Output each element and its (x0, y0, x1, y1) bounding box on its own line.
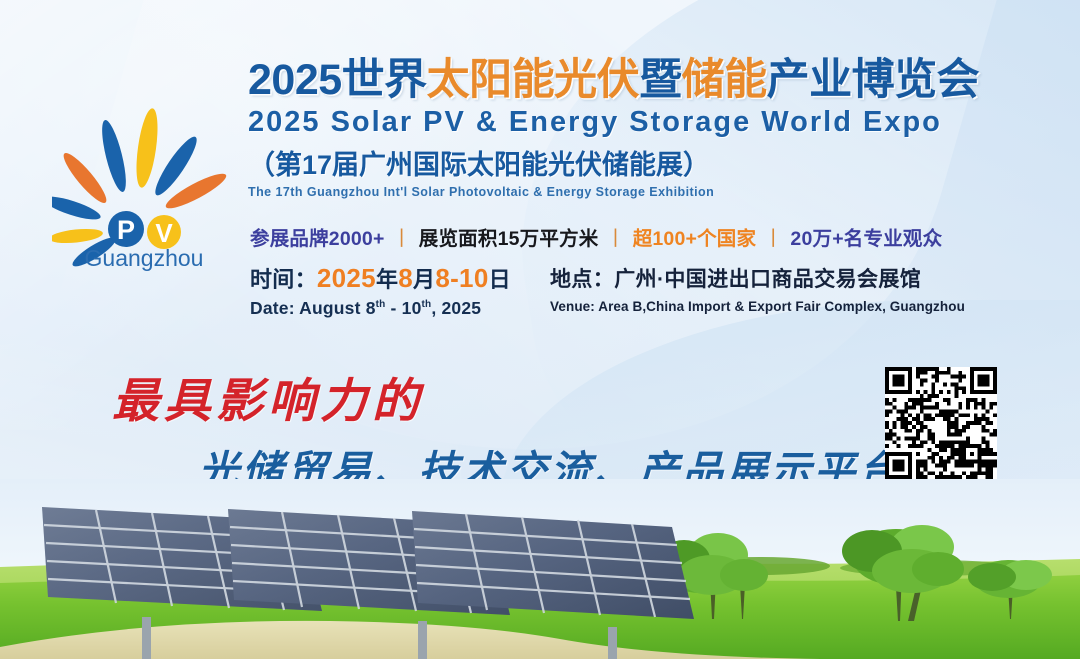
stat-separator-3: 丨 (763, 228, 783, 250)
date-en-sup-2: th (422, 299, 432, 310)
main-title-english: 2025 Solar PV & Energy Storage World Exp… (248, 106, 1038, 139)
pv-lettermark: P V (108, 211, 181, 249)
main-title-part-3: 暨 (639, 56, 682, 104)
date-english: Date: August 8th - 10th, 2025 (250, 298, 550, 319)
venue-block: 地点：广州·中国进出口商品交易会展馆 Venue: Area B,China I… (550, 262, 965, 314)
slogan-line-1: 最具影响力的 (112, 362, 872, 431)
main-title-part-4: 储能 (682, 56, 767, 104)
poster-header: 2025世界太阳能光伏暨储能产业博览会 2025 Solar PV & Ener… (248, 58, 1038, 199)
date-days-num: 8-10 (435, 263, 488, 293)
logo-city-label: Guangzhou (85, 245, 204, 271)
date-en-prefix: Date: August 8 (250, 298, 376, 318)
main-title-part-1: 2025世界 (248, 56, 427, 104)
main-title: 2025世界太阳能光伏暨储能产业博览会 (248, 58, 1038, 104)
stat-visitors: 20万+名专业观众 (790, 228, 942, 250)
date-day-char: 日 (489, 267, 511, 292)
date-en-mid: - 10 (385, 298, 421, 318)
qr-code-image (885, 367, 997, 479)
stat-separator-2: 丨 (605, 228, 625, 250)
date-en-sup-1: th (376, 299, 386, 310)
venue-chinese: 地点：广州·中国进出口商品交易会展馆 (550, 263, 965, 293)
main-title-part-2: 太阳能光伏 (427, 56, 640, 104)
landscape-illustration (0, 479, 1080, 659)
svg-text:V: V (155, 218, 173, 248)
venue-english: Venue: Area B,China Import & Export Fair… (550, 299, 965, 314)
subtitle-chinese: （第17届广州国际太阳能光伏储能展） (248, 143, 1038, 182)
main-title-part-5: 产业博览会 (767, 56, 980, 104)
date-venue-block: 时间：2025年8月8-10日 Date: August 8th - 10th,… (250, 262, 1040, 319)
date-label-cn: 时间： (250, 267, 317, 292)
date-chinese: 时间：2025年8月8-10日 (250, 262, 550, 294)
stat-brands: 参展品牌2000+ (250, 228, 385, 250)
pv-guangzhou-logo: P V Guangzhou (52, 96, 232, 276)
date-month-num: 8 (398, 263, 413, 293)
date-block: 时间：2025年8月8-10日 Date: August 8th - 10th,… (250, 262, 550, 319)
stat-area: 展览面积15万平方米 (419, 228, 599, 250)
slogan-block: 最具影响力的 光储贸易、技术交流、产品展示平台！ (112, 362, 872, 497)
svg-text:P: P (117, 215, 135, 245)
stat-countries: 超100+个国家 (633, 228, 757, 250)
stat-separator-1: 丨 (392, 228, 412, 250)
expo-poster: P V Guangzhou 2025世界太阳能光伏暨储能产业博览会 2025 S… (0, 0, 1080, 659)
date-en-suffix: , 2025 (431, 298, 481, 318)
date-month-char: 月 (413, 267, 435, 292)
stats-strip: 参展品牌2000+丨展览面积15万平方米丨超100+个国家丨20万+名专业观众 (250, 222, 942, 251)
subtitle-english: The 17th Guangzhou Int'l Solar Photovolt… (248, 185, 1038, 199)
date-year-char: 年 (376, 267, 398, 292)
date-year-num: 2025 (317, 263, 376, 293)
